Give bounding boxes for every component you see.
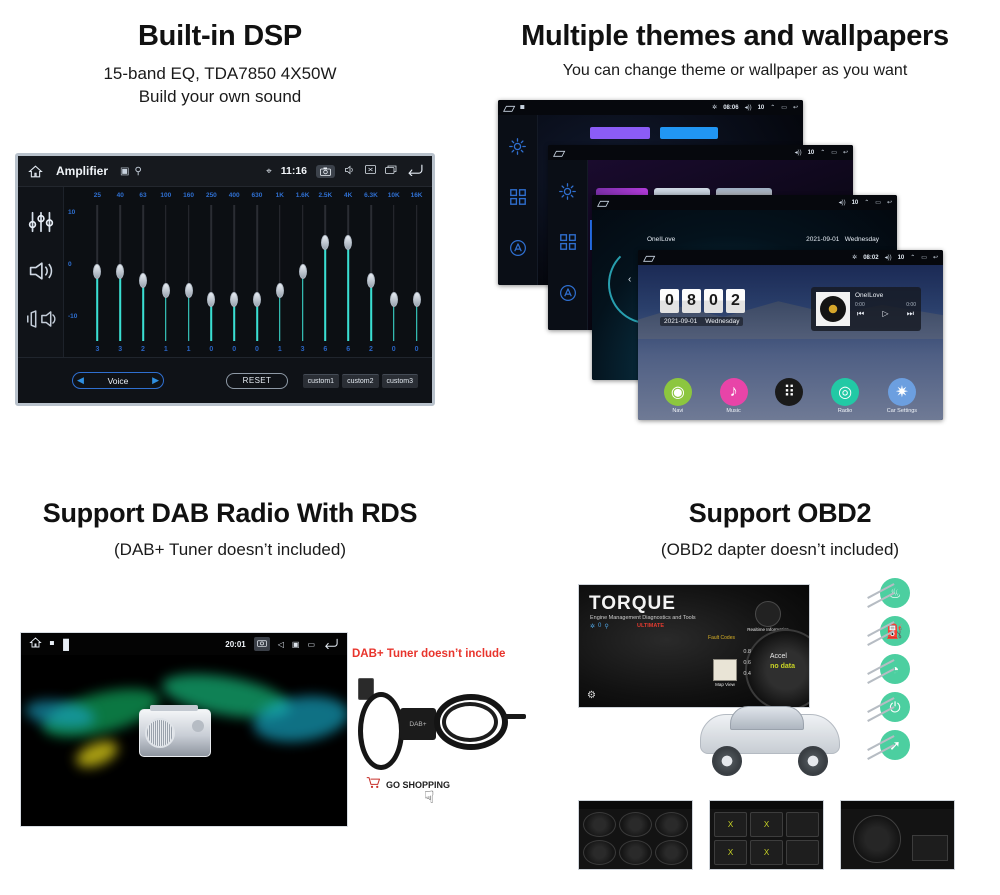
eq-fill: [347, 243, 349, 341]
music-player-widget[interactable]: OneILove 0:00 0:00 ⏮ ▷ ⏭: [811, 287, 921, 331]
eq-fill: [119, 272, 121, 341]
custom-preset-button[interactable]: custom2: [342, 374, 378, 388]
obd-section-subtitle: (OBD2 dapter doesn’t included): [560, 540, 1000, 560]
dab-tuner-accessory: DAB+ Tuner doesn’t include DAB+ GO SHOPP…: [352, 648, 542, 818]
car-wheel-rear: [798, 746, 828, 776]
location-icon: ⌖: [266, 166, 272, 177]
eq-value-label: 3: [86, 346, 109, 353]
theme4-date-line: 2021-09-01 Wednesday: [660, 317, 743, 326]
home-icon[interactable]: ▱: [503, 100, 515, 118]
shopping-cart-icon: [366, 776, 381, 794]
signal-count: 0: [598, 623, 601, 630]
eq-frequency-label: 25: [86, 192, 109, 199]
recents-icon[interactable]: ▭: [831, 149, 837, 156]
map-view-thumbnail[interactable]: [713, 659, 737, 681]
previous-track-icon[interactable]: ⏮: [857, 309, 864, 319]
dsp-status-right: ⌖ 11:16: [266, 163, 432, 179]
single-gauge-dashboard-thumbnail[interactable]: [840, 800, 955, 870]
map-pin-icon[interactable]: ◉: [664, 378, 692, 406]
eq-frequency-label: 400: [223, 192, 246, 199]
eq-value-label: 1: [154, 346, 177, 353]
eq-fill: [279, 291, 281, 341]
engine-info-dial[interactable]: [755, 601, 781, 627]
screenshot-icon[interactable]: ▣: [292, 640, 300, 649]
home-icon[interactable]: ▱: [553, 145, 565, 163]
dsp-section-subtitle: 15-band EQ, TDA7850 4X50W Build your own…: [0, 62, 440, 108]
eq-slider-group[interactable]: [86, 205, 428, 341]
volume-icon[interactable]: [344, 165, 356, 178]
custom-preset-button[interactable]: custom3: [382, 374, 418, 388]
volume-icon[interactable]: ◂)): [839, 199, 846, 206]
theme3-date-value: 2021-09-01: [806, 236, 839, 243]
picture-icon: ▪: [49, 635, 55, 653]
eq-band[interactable]: [200, 205, 223, 341]
recents-icon[interactable]: ▭: [781, 104, 787, 111]
theme3-track-title: OneILove: [647, 236, 675, 243]
eq-knob[interactable]: [299, 264, 307, 279]
music-track-title: OneILove: [855, 292, 916, 299]
theme4-clock: 08:02: [863, 255, 878, 261]
tiles-dashboard-thumbnail[interactable]: XXXX: [709, 800, 824, 870]
eq-knob[interactable]: [253, 292, 261, 307]
accel-gauge-ticks: 0.80.60.4: [743, 647, 751, 680]
flip-clock-digit: 2: [726, 289, 745, 313]
feature-page: Built-in DSP 15-band EQ, TDA7850 4X50W B…: [0, 0, 1000, 895]
eq-knob[interactable]: [390, 292, 398, 307]
go-shopping-callout[interactable]: GO SHOPPING: [366, 776, 450, 794]
radio-speaker-grille: [145, 718, 175, 748]
dab-clock: 20:01: [225, 640, 245, 649]
radio-icon[interactable]: ◎: [831, 378, 859, 406]
theme4-wallpaper: 0802 2021-09-01 Wednesday OneILove 0:00 …: [638, 265, 943, 420]
chevron-left-icon[interactable]: ‹: [628, 274, 631, 285]
eq-knob[interactable]: [139, 273, 147, 288]
app-shortcut-label: Music: [726, 408, 740, 414]
collapse-icon[interactable]: ⌃: [820, 149, 825, 156]
flip-clock-digit: 8: [682, 289, 701, 313]
collapse-icon[interactable]: ⌃: [864, 199, 869, 206]
obd-section-title: Support OBD2: [560, 498, 1000, 529]
picture-icon: ▪: [519, 100, 525, 117]
back-icon[interactable]: ↩: [793, 104, 798, 111]
theme4-status-left: ▱: [643, 250, 655, 268]
eq-frequency-label: 2.5K: [314, 192, 337, 199]
gear-icon[interactable]: ✷: [888, 378, 916, 406]
volume-icon[interactable]: ◁: [278, 640, 284, 649]
theme1-sidebar[interactable]: [498, 115, 538, 285]
volume-icon[interactable]: ◂)): [745, 104, 752, 111]
dab-status-left: ▪ ▮: [29, 634, 70, 654]
eq-band[interactable]: [268, 205, 291, 341]
theme1-clock: 08:06: [723, 105, 738, 111]
volume-icon[interactable]: ◂)): [885, 254, 892, 261]
theme2-sidebar[interactable]: [548, 160, 588, 330]
themes-section-title: Multiple themes and wallpapers: [470, 20, 1000, 53]
gear-icon[interactable]: ⚙: [587, 690, 596, 701]
next-track-icon[interactable]: ⏭: [907, 309, 914, 319]
smoke-wisp-yellow: [72, 736, 121, 773]
custom-preset-group[interactable]: custom1custom2custom3: [303, 374, 418, 388]
back-icon[interactable]: ↩: [843, 149, 848, 156]
eq-fill: [165, 291, 167, 341]
eq-band[interactable]: [314, 205, 337, 341]
gauge: [583, 840, 616, 865]
car-cabin: [730, 706, 804, 730]
dab-section-title: Support DAB Radio With RDS: [0, 498, 460, 529]
volume-icon[interactable]: ◂)): [795, 149, 802, 156]
eq-frequency-label: 10K: [382, 192, 405, 199]
fault-codes-label[interactable]: Fault Codes: [708, 635, 735, 641]
eq-band[interactable]: [291, 205, 314, 341]
eq-value-label: 3: [109, 346, 132, 353]
usb-cable-loop: [358, 692, 404, 770]
eq-band[interactable]: [109, 205, 132, 341]
recents-icon[interactable]: ▭: [921, 254, 927, 261]
thumb3-side-card: [912, 835, 948, 861]
camera-icon[interactable]: [316, 165, 335, 178]
dab-wallpaper: [21, 655, 347, 826]
back-icon[interactable]: [323, 637, 339, 651]
theme4-status-right: ✲ 08:02 ◂)) 10 ⌃ ▭ ↩: [852, 254, 938, 261]
eq-fill: [142, 281, 144, 341]
torque-app-screenshot: TORQUE Engine Management Diagnostics and…: [578, 584, 810, 708]
album-art: [816, 292, 850, 326]
eq-fill: [97, 272, 99, 341]
picture-icon: ▣: [120, 166, 129, 177]
eq-value-label: 6: [314, 346, 337, 353]
gear-icon[interactable]: [559, 183, 576, 205]
theme4-volume: 10: [898, 255, 905, 261]
leader-line: [867, 735, 894, 750]
custom-preset-button[interactable]: custom1: [303, 374, 339, 388]
theme3-volume: 10: [852, 200, 859, 206]
dashboard-tile: X: [714, 812, 747, 837]
flip-clock-widget: 0802: [660, 289, 745, 313]
music-times: 0:00 0:00: [855, 302, 916, 308]
accel-gauge-label: Accel: [770, 653, 787, 660]
music-elapsed: 0:00: [855, 302, 865, 308]
theme4-status-bar: ▱ ✲ 08:02 ◂)) 10 ⌃ ▭ ↩: [638, 250, 943, 265]
eq-value-label: 3: [291, 346, 314, 353]
music-widget-info: OneILove 0:00 0:00 ⏮ ▷ ⏭: [855, 287, 921, 331]
obd-dashboard-thumbnails: XXXX: [578, 800, 956, 874]
bluetooth-icon: ✲: [590, 623, 595, 630]
antenna-connector: [504, 714, 526, 719]
dsp-controls: ◀ Voice ▶ RESET custom1custom2custom3: [18, 357, 432, 403]
camera-icon[interactable]: [254, 637, 270, 651]
eq-frequency-label: 40: [109, 192, 132, 199]
power-timer-icon: ⏻: [880, 692, 910, 722]
music-note-icon[interactable]: ♪: [720, 378, 748, 406]
eq-frequency-label: 6.3K: [360, 192, 383, 199]
car-chassis-illustration: [690, 700, 850, 778]
app-shortcut-label: Car Settings: [887, 408, 917, 414]
home-icon[interactable]: [18, 165, 52, 178]
eq-band[interactable]: [382, 205, 405, 341]
balance-fader-icon[interactable]: [26, 310, 56, 333]
eq-fill: [325, 243, 327, 341]
music-duration: 0:00: [906, 302, 916, 308]
themes-section-subtitle: You can change theme or wallpaper as you…: [470, 62, 1000, 80]
gauge: [619, 812, 652, 837]
retro-radio-illustration: [139, 709, 211, 757]
dsp-status-mini-icons: ▣ ⚲: [120, 166, 142, 177]
eq-frequency-label: 250: [200, 192, 223, 199]
eq-knob[interactable]: [116, 264, 124, 279]
app-shortcut[interactable]: ✷Car Settings: [887, 378, 917, 414]
torque-tagline: Engine Management Diagnostics and Tools: [590, 615, 696, 621]
preset-label: Voice: [108, 376, 129, 386]
fuel-pump-icon: ⛽: [880, 616, 910, 646]
recents-icon[interactable]: ▭: [875, 199, 881, 206]
eq-frequency-label: 160: [177, 192, 200, 199]
theme4-weekday: Wednesday: [705, 318, 739, 325]
thumb3-status-bar: [841, 801, 954, 809]
dab-status-right: 20:01 ◁ ▣ ▭: [225, 637, 339, 651]
dsp-section-title: Built-in DSP: [0, 20, 440, 53]
app-shortcut-label: Radio: [838, 408, 852, 414]
eq-frequency-labels: 2540631001602504006301K1.6K2.5K4K6.3K10K…: [86, 192, 428, 199]
preset-voice-button[interactable]: ◀ Voice ▶: [72, 372, 164, 389]
eq-band[interactable]: [337, 205, 360, 341]
eq-knob[interactable]: [367, 273, 375, 288]
map-view-label: Map View: [711, 682, 739, 687]
obd-feature-icon-column: ♨⛽◔⏻➚: [862, 578, 922, 764]
theme-screenshot-stack: ▱ ▪ ✲ 08:06 ◂)) 10 ⌃ ▭ ↩: [490, 95, 960, 425]
eq-fill: [370, 281, 372, 341]
eq-frequency-label: 100: [154, 192, 177, 199]
theme1-volume: 10: [758, 105, 765, 111]
app-shortcut[interactable]: ⠿: [775, 378, 803, 414]
theme3-status-left: ▱: [597, 195, 609, 213]
dab-status-bar: ▪ ▮ 20:01 ◁ ▣ ▭: [21, 633, 347, 655]
vinyl-record-icon: [820, 296, 846, 322]
theme3-status-right: ◂)) 10 ⌃ ▭ ↩: [839, 199, 892, 206]
dab-radio-screenshot: ▪ ▮ 20:01 ◁ ▣ ▭: [20, 632, 348, 827]
leader-line: [867, 621, 894, 636]
dab-tuner-note: DAB+ Tuner doesn’t include: [352, 648, 542, 660]
accel-gauge-value: no data: [770, 663, 795, 670]
home-icon[interactable]: ▱: [597, 195, 609, 213]
gauge: [655, 840, 688, 865]
eq-band[interactable]: [246, 205, 269, 341]
go-shopping-label: GO SHOPPING: [386, 780, 450, 790]
dsp-amplifier-screenshot: Amplifier ▣ ⚲ ⌖ 11:16: [15, 153, 435, 406]
torque-edition: ULTIMATE: [637, 623, 664, 629]
lock-icon: ▮: [62, 634, 71, 654]
bluetooth-icon: ✲: [852, 254, 857, 261]
dsp-clock: 11:16: [281, 165, 307, 177]
eq-axis-mid: 0: [68, 261, 72, 268]
flip-clock-digit: 0: [704, 289, 723, 313]
equalizer-panel[interactable]: 10 0 -10 2540631001602504006301K1.6K2.5K…: [64, 187, 432, 357]
eq-frequency-label: 4K: [337, 192, 360, 199]
theme1-status-bar: ▱ ▪ ✲ 08:06 ◂)) 10 ⌃ ▭ ↩: [498, 100, 803, 115]
back-icon[interactable]: [406, 163, 424, 179]
thumb2-tile-grid: XXXX: [714, 812, 819, 865]
eq-knob[interactable]: [276, 283, 284, 298]
app-shortcut[interactable]: ◉Navi: [664, 378, 692, 414]
app-shortcut[interactable]: ♪Music: [720, 378, 748, 414]
dsp-subtitle-line1: 15-band EQ, TDA7850 4X50W: [0, 62, 440, 85]
home-icon[interactable]: [29, 635, 42, 653]
gauge-tick-label: 0.6: [743, 658, 751, 669]
dashboard-tile: X: [714, 840, 747, 865]
eq-band[interactable]: [132, 205, 155, 341]
theme2-status-left: ▱: [553, 145, 565, 163]
dsp-body: 10 0 -10 2540631001602504006301K1.6K2.5K…: [18, 187, 432, 357]
eq-value-label: 6: [337, 346, 360, 353]
reset-button[interactable]: RESET: [226, 373, 288, 389]
dashboard-tile: [786, 840, 819, 865]
play-icon[interactable]: ▷: [882, 309, 888, 319]
location-pin-icon: ⚲: [134, 166, 141, 177]
gauges-dashboard-thumbnail[interactable]: [578, 800, 693, 870]
eq-band[interactable]: [86, 205, 109, 341]
speedometer-icon: ◔: [880, 654, 910, 684]
eq-band[interactable]: [154, 205, 177, 341]
antenna-cable-coil-inner: [442, 702, 498, 742]
gauge: [655, 812, 688, 837]
theme2-volume: 10: [808, 150, 815, 156]
eq-knob[interactable]: [321, 235, 329, 250]
dsp-status-bar: Amplifier ▣ ⚲ ⌖ 11:16: [18, 156, 432, 187]
app-shortcut-row[interactable]: ◉Navi♪Music⠿◎Radio✷Car Settings: [638, 378, 943, 414]
flip-clock-digit: 0: [660, 289, 679, 313]
eq-frequency-label: 1K: [268, 192, 291, 199]
music-controls[interactable]: ⏮ ▷ ⏭: [855, 309, 916, 319]
eq-value-labels: 332110001366200: [86, 346, 428, 353]
theme1-status-left: ▱ ▪: [503, 100, 525, 118]
eq-value-label: 0: [246, 346, 269, 353]
eq-axis-bottom: -10: [68, 313, 77, 320]
gauge: [583, 812, 616, 837]
eq-value-label: 0: [200, 346, 223, 353]
apps-grid-icon[interactable]: [510, 189, 526, 210]
eq-value-label: 2: [360, 346, 383, 353]
android-auto-icon[interactable]: [509, 239, 527, 262]
chevron-left-icon[interactable]: ◀: [77, 375, 84, 386]
home-icon[interactable]: ▱: [643, 250, 655, 268]
thumb2-status-bar: [710, 801, 823, 809]
eq-band[interactable]: [405, 205, 428, 341]
radio-tuning-dial: [192, 720, 204, 732]
dashboard-tile: X: [750, 812, 783, 837]
eq-frequency-label: 16K: [405, 192, 428, 199]
back-icon[interactable]: ↩: [933, 254, 938, 261]
eq-knob[interactable]: [344, 235, 352, 250]
theme-screen-4[interactable]: ▱ ✲ 08:02 ◂)) 10 ⌃ ▭ ↩ 0802 2021-09-01 W…: [638, 250, 943, 420]
dashboard-tile: [786, 812, 819, 837]
theme3-date: 2021-09-01 Wednesday: [806, 236, 879, 243]
eq-value-label: 1: [177, 346, 200, 353]
collapse-icon[interactable]: ⌃: [770, 104, 775, 111]
eq-knob[interactable]: [93, 264, 101, 279]
recents-icon[interactable]: ▭: [307, 640, 315, 649]
android-auto-icon[interactable]: [559, 284, 577, 307]
theme1-status-right: ✲ 08:06 ◂)) 10 ⌃ ▭ ↩: [712, 104, 798, 111]
recents-icon[interactable]: [385, 165, 397, 177]
eq-knob[interactable]: [185, 283, 193, 298]
eq-frequency-label: 63: [132, 192, 155, 199]
eq-value-label: 1: [268, 346, 291, 353]
eq-frequency-label: 1.6K: [291, 192, 314, 199]
rocket-icon: ➚: [880, 730, 910, 760]
theme3-status-bar: ▱ ◂)) 10 ⌃ ▭ ↩: [592, 195, 897, 210]
eq-knob[interactable]: [207, 292, 215, 307]
theme2-status-bar: ▱ ◂)) 10 ⌃ ▭ ↩: [548, 145, 853, 160]
back-icon[interactable]: ↩: [887, 199, 892, 206]
dsp-sidebar: [18, 187, 64, 357]
large-gauge: [853, 815, 901, 863]
radio-handle: [150, 705, 198, 711]
app-shortcut[interactable]: ◎Radio: [831, 378, 859, 414]
eq-knob[interactable]: [230, 292, 238, 307]
theme4-date: 2021-09-01: [664, 318, 697, 325]
theme3-weekday: Wednesday: [845, 236, 879, 243]
apps-grid-icon[interactable]: ⠿: [775, 378, 803, 406]
dab-receiver-box: DAB+: [400, 708, 436, 740]
eq-value-label: 0: [382, 346, 405, 353]
pointing-hand-icon: ☟: [424, 788, 434, 808]
eq-knob[interactable]: [162, 283, 170, 298]
dsp-app-title: Amplifier: [56, 164, 108, 178]
dsp-subtitle-line2: Build your own sound: [0, 85, 440, 108]
equalizer-icon[interactable]: [28, 211, 54, 238]
leader-line: [867, 697, 894, 712]
eq-value-label: 2: [132, 346, 155, 353]
bluetooth-icon: ✲: [712, 104, 717, 111]
app-shortcut-label: Navi: [672, 408, 683, 414]
leader-line: [867, 583, 894, 598]
gear-icon[interactable]: [509, 138, 526, 160]
theme1-tile-blue[interactable]: [660, 127, 718, 139]
gauge-tick-label: 0.4: [743, 669, 751, 680]
gauge-tick-label: 0.8: [743, 647, 751, 658]
eq-frequency-label: 630: [246, 192, 269, 199]
eq-value-label: 0: [405, 346, 428, 353]
torque-status-icons: ✲ 0 ⚲: [590, 623, 609, 630]
theme2-status-right: ◂)) 10 ⌃ ▭ ↩: [795, 149, 848, 156]
theme1-tile-purple[interactable]: [590, 127, 650, 139]
apps-grid-icon[interactable]: [560, 234, 576, 255]
leader-line: [867, 659, 894, 674]
thumb1-gauge-grid: [583, 812, 688, 865]
thumb1-status-bar: [579, 801, 692, 809]
eq-fill: [188, 291, 190, 341]
dab-section-subtitle: (DAB+ Tuner doesn’t included): [0, 540, 460, 560]
eq-value-label: 0: [223, 346, 246, 353]
gps-icon: ⚲: [604, 623, 608, 630]
eq-axis-top: 10: [68, 209, 75, 216]
collapse-icon[interactable]: ⌃: [910, 254, 915, 261]
eq-band[interactable]: [177, 205, 200, 341]
close-icon[interactable]: [365, 165, 376, 177]
speaker-icon[interactable]: [28, 261, 54, 286]
eq-fill: [302, 272, 304, 341]
dashboard-tile: X: [750, 840, 783, 865]
coolant-temperature-icon: ♨: [880, 578, 910, 608]
eq-band[interactable]: [223, 205, 246, 341]
chevron-right-icon[interactable]: ▶: [152, 375, 159, 386]
torque-app-name: TORQUE: [589, 593, 676, 615]
eq-band[interactable]: [360, 205, 383, 341]
eq-knob[interactable]: [413, 292, 421, 307]
gauge: [619, 840, 652, 865]
car-wheel-front: [712, 746, 742, 776]
